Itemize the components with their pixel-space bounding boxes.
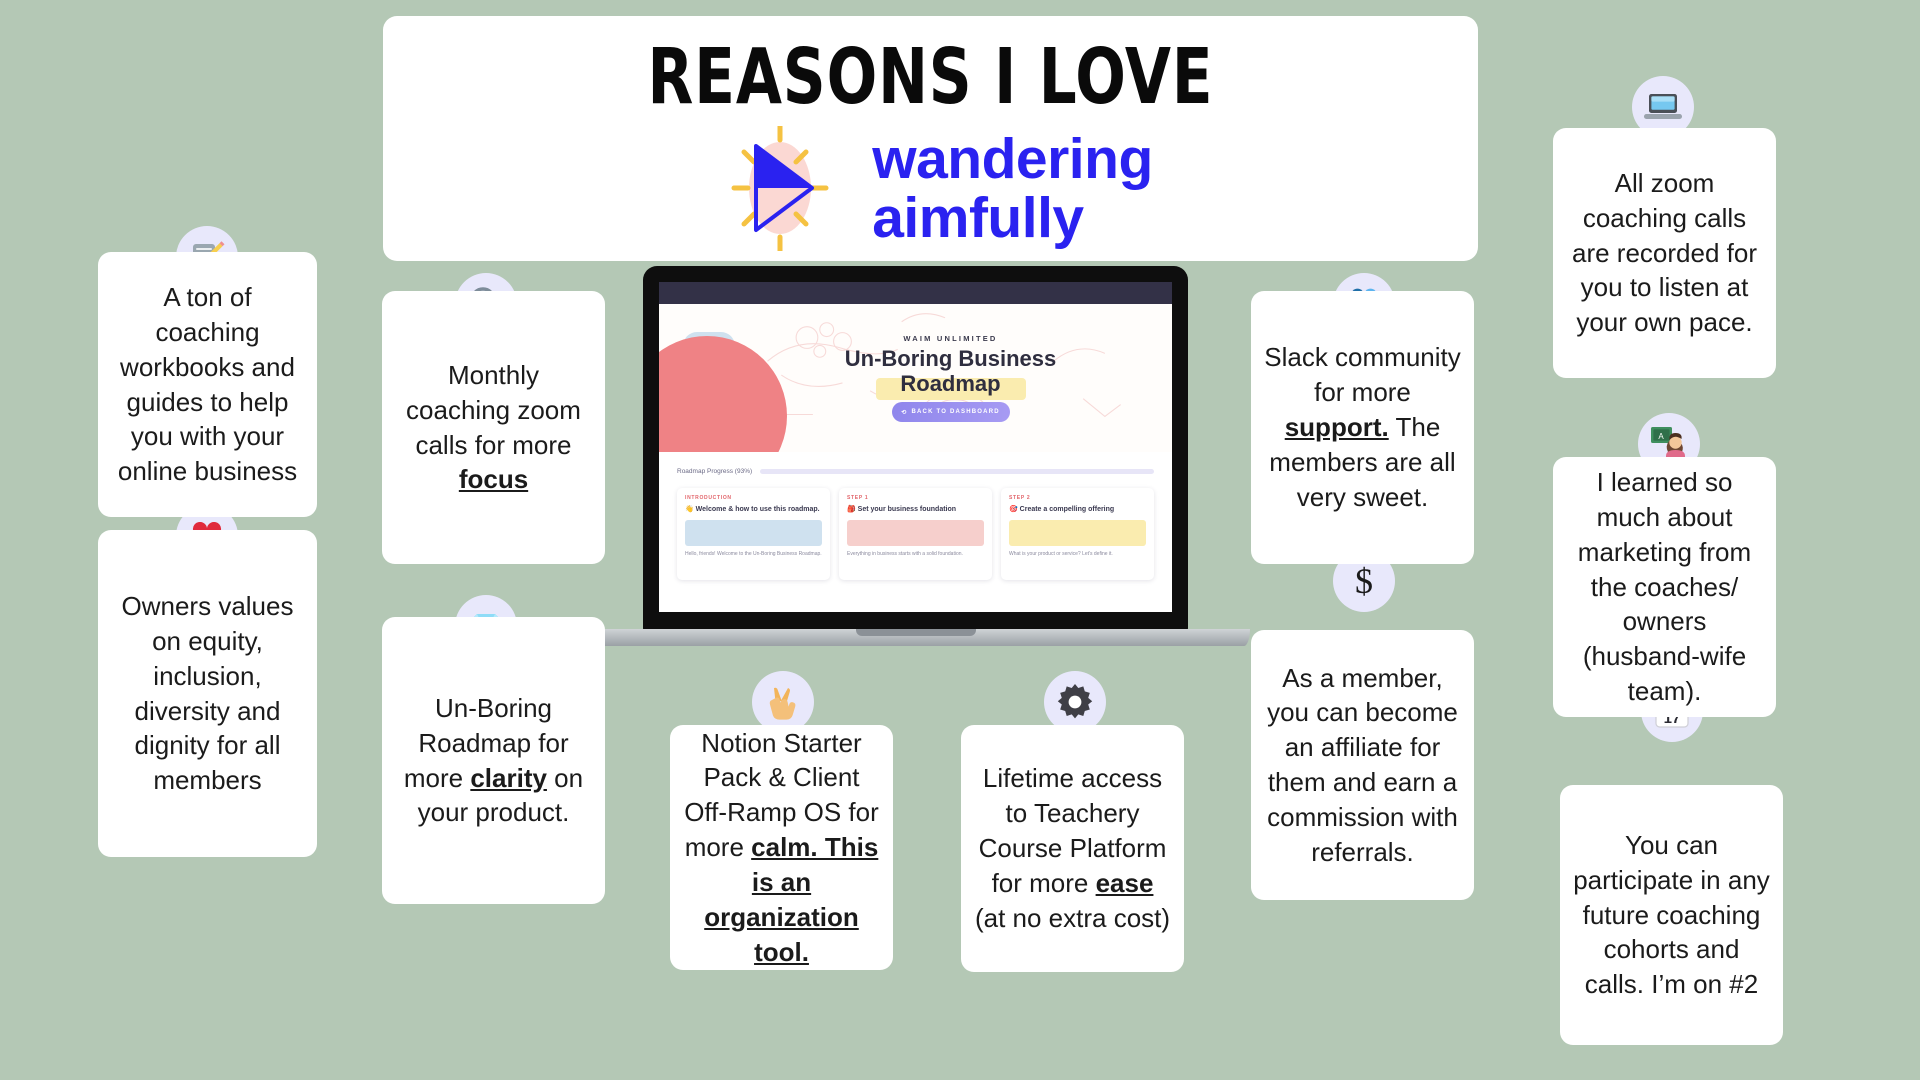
card-notion-starter-pack: Notion Starter Pack & Client Off-Ramp OS… xyxy=(670,725,893,970)
card-un-boring-roadmap: Un-Boring Roadmap for more clarity on yo… xyxy=(382,617,605,904)
back-to-dashboard-button[interactable]: ⟲ BACK TO DASHBOARD xyxy=(892,402,1010,422)
header-banner: REASONS I LOVE xyxy=(383,16,1478,261)
roadmap-card-tag: STEP 1 xyxy=(847,495,984,501)
card-notion-starter-pack-text: Notion Starter Pack & Client Off-Ramp OS… xyxy=(683,726,880,970)
app-heading-line-2: Roadmap xyxy=(900,371,1000,396)
card-affiliate-commission: As a member, you can become an affiliate… xyxy=(1251,630,1474,900)
roadmap-card-body: Everything in business starts with a sol… xyxy=(847,551,984,559)
svg-text:$: $ xyxy=(1355,562,1373,600)
card-teachery-lifetime-access-text: Lifetime access to Teachery Course Platf… xyxy=(974,761,1171,935)
roadmap-card-list: INTRODUCTION 👋 Welcome & how to use this… xyxy=(677,488,1154,580)
poster-canvas: REASONS I LOVE xyxy=(0,0,1920,1080)
app-hero: 📈 WAIM UNLIMITED Un-Boring Business Road… xyxy=(659,304,1172,452)
laptop-body: 📈 WAIM UNLIMITED Un-Boring Business Road… xyxy=(643,266,1188,634)
roadmap-card-tag: INTRODUCTION xyxy=(685,495,822,501)
card-monthly-coaching-calls-text: Monthly coaching zoom calls for more foc… xyxy=(395,358,592,497)
app-topbar xyxy=(659,282,1172,304)
svg-text:A: A xyxy=(1658,432,1664,441)
roadmap-card-thumbnail xyxy=(847,520,984,546)
progress-track xyxy=(760,469,1154,474)
brand-lockup: wandering aimfully xyxy=(383,126,1478,251)
laptop-trackpad-notch xyxy=(856,629,976,636)
brand-name: wandering aimfully xyxy=(872,130,1153,246)
card-owner-values: Owners values on equity, inclusion, dive… xyxy=(98,530,317,857)
card-slack-community: Slack community for more support. The me… xyxy=(1251,291,1474,564)
roadmap-card-body: Hello, friends! Welcome to the Un-Boring… xyxy=(685,551,822,559)
laptop-screen: 📈 WAIM UNLIMITED Un-Boring Business Road… xyxy=(659,282,1172,612)
app-heading-line-1: Un-Boring Business xyxy=(845,346,1056,371)
laptop-mockup: 📈 WAIM UNLIMITED Un-Boring Business Road… xyxy=(643,266,1188,646)
card-learned-marketing-text: I learned so much about marketing from t… xyxy=(1566,465,1763,709)
card-recorded-calls: All zoom coaching calls are recorded for… xyxy=(1553,128,1776,378)
card-teachery-lifetime-access: Lifetime access to Teachery Course Platf… xyxy=(961,725,1184,972)
page-title: REASONS I LOVE xyxy=(460,39,1402,116)
wandering-aimfully-logo-icon xyxy=(708,126,848,251)
roadmap-card-title: 🎒 Set your business foundation xyxy=(847,505,984,514)
roadmap-card-tag: STEP 2 xyxy=(1009,495,1146,501)
card-future-cohorts: You can participate in any future coachi… xyxy=(1560,785,1783,1045)
card-un-boring-roadmap-text: Un-Boring Roadmap for more clarity on yo… xyxy=(395,691,592,830)
card-affiliate-commission-text: As a member, you can become an affiliate… xyxy=(1264,661,1461,870)
card-slack-community-text: Slack community for more support. The me… xyxy=(1264,340,1461,514)
card-owner-values-text: Owners values on equity, inclusion, dive… xyxy=(111,589,304,798)
card-recorded-calls-text: All zoom coaching calls are recorded for… xyxy=(1566,166,1763,340)
roadmap-card-title: 🎯 Create a compelling offering xyxy=(1009,505,1146,514)
roadmap-card[interactable]: INTRODUCTION 👋 Welcome & how to use this… xyxy=(677,488,830,580)
roadmap-card[interactable]: STEP 2 🎯 Create a compelling offering Wh… xyxy=(1001,488,1154,580)
brand-line-2: aimfully xyxy=(872,189,1153,247)
roadmap-card-body: What is your product or service? Let's d… xyxy=(1009,551,1146,559)
roadmap-card-thumbnail xyxy=(685,520,822,546)
back-to-dashboard-label: BACK TO DASHBOARD xyxy=(911,409,999,415)
peace-hand-icon xyxy=(752,671,814,733)
gear-icon xyxy=(1044,671,1106,733)
card-learned-marketing: I learned so much about marketing from t… xyxy=(1553,457,1776,717)
back-arrow-icon: ⟲ xyxy=(901,409,907,416)
roadmap-card[interactable]: STEP 1 🎒 Set your business foundation Ev… xyxy=(839,488,992,580)
card-monthly-coaching-calls: Monthly coaching zoom calls for more foc… xyxy=(382,291,605,564)
progress-label: Roadmap Progress (93%) xyxy=(677,468,752,475)
brand-line-1: wandering xyxy=(872,130,1153,188)
card-coaching-workbooks-text: A ton of coaching workbooks and guides t… xyxy=(111,280,304,489)
roadmap-card-title: 👋 Welcome & how to use this roadmap. xyxy=(685,505,822,514)
card-future-cohorts-text: You can participate in any future coachi… xyxy=(1573,828,1770,1002)
roadmap-progress: Roadmap Progress (93%) xyxy=(677,468,1154,475)
card-coaching-workbooks: A ton of coaching workbooks and guides t… xyxy=(98,252,317,517)
roadmap-card-thumbnail xyxy=(1009,520,1146,546)
